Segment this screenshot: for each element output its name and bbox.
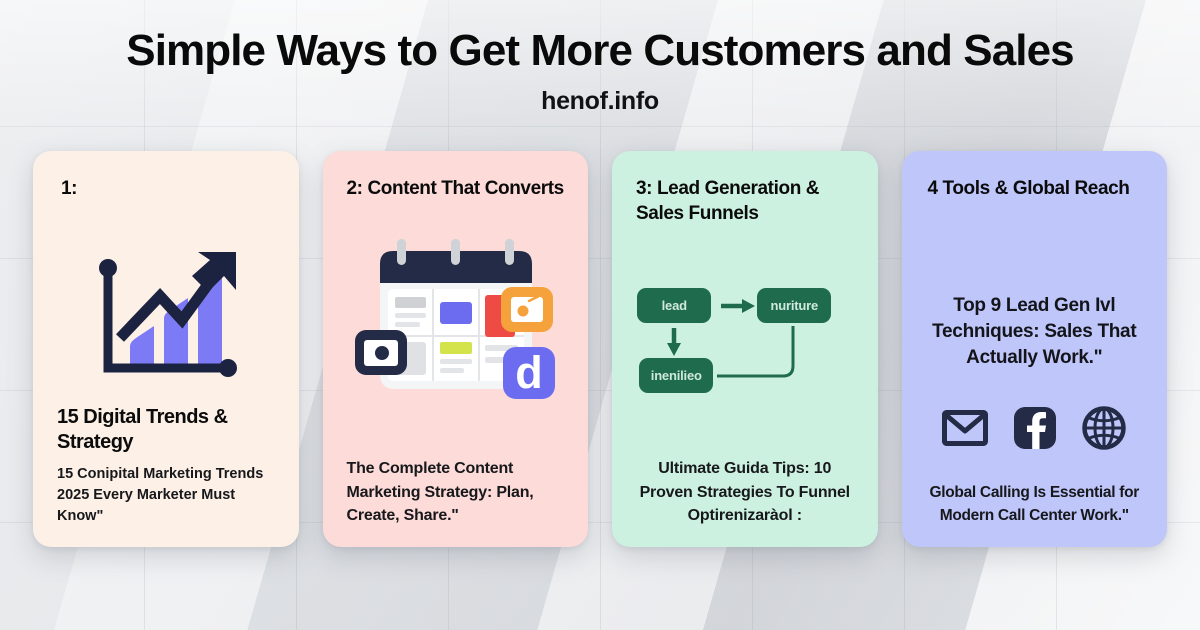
card-footer: Global Calling Is Essential for Modern C… [926,482,1144,527]
page-header: Simple Ways to Get More Customers and Sa… [0,0,1200,116]
svg-text:d: d [515,347,543,398]
growth-chart-icon [57,241,275,401]
card-tools-global-reach[interactable]: 4 Tools & Global Reach Top 9 Lead Gen Iv… [902,151,1168,547]
card-footer: Ultimate Guida Tips: 10 Proven Strategie… [636,457,854,527]
funnel-node-lead: lead [637,288,711,323]
card-number-label: 4 Tools & Global Reach [926,177,1144,229]
card-blurb: 15 Conipital Marketing Trends 2025 Every… [57,464,275,527]
facebook-icon[interactable] [1014,407,1056,449]
card-number-label: 1: [57,177,275,229]
cards-row: 1: 15 Digital Trends & Strateg [33,151,1167,547]
card-blurb: Ultimate Guida Tips: 10 Proven Strategie… [636,457,854,527]
card-blurb: Global Calling Is Essential for Modern C… [926,482,1144,527]
email-icon[interactable] [942,410,988,446]
card-content-converts[interactable]: 2: Content That Converts [323,151,589,547]
card-number-label: 3: Lead Generation & Sales Funnels [636,177,854,229]
card-quote: Top 9 Lead Gen Ivl Techniques: Sales Tha… [926,293,1144,370]
card-headline: 15 Digital Trends & Strategy [57,405,275,454]
social-icons-row [926,406,1144,450]
funnel-flow-diagram: lead nuriture inenilieo [636,261,854,411]
card-digital-trends[interactable]: 1: 15 Digital Trends & Strateg [33,151,299,547]
funnel-node-nurture: nuriture [757,288,831,323]
funnel-node-convert: inenilieo [639,358,713,393]
content-calendar-icon: d [347,235,565,407]
site-name: henof.info [0,75,1200,116]
card-blurb: The Complete Content Marketing Strategy:… [347,457,565,527]
card-footer: The Complete Content Marketing Strategy:… [347,457,565,527]
card-lead-generation[interactable]: 3: Lead Generation & Sales Funnels lead … [612,151,878,547]
card-number-label: 2: Content That Converts [347,177,565,229]
card-footer: 15 Digital Trends & Strategy 15 Conipita… [57,405,275,527]
funnel-wrapper: lead nuriture inenilieo [637,276,852,396]
globe-icon[interactable] [1082,406,1126,450]
page-title: Simple Ways to Get More Customers and Sa… [0,0,1200,75]
